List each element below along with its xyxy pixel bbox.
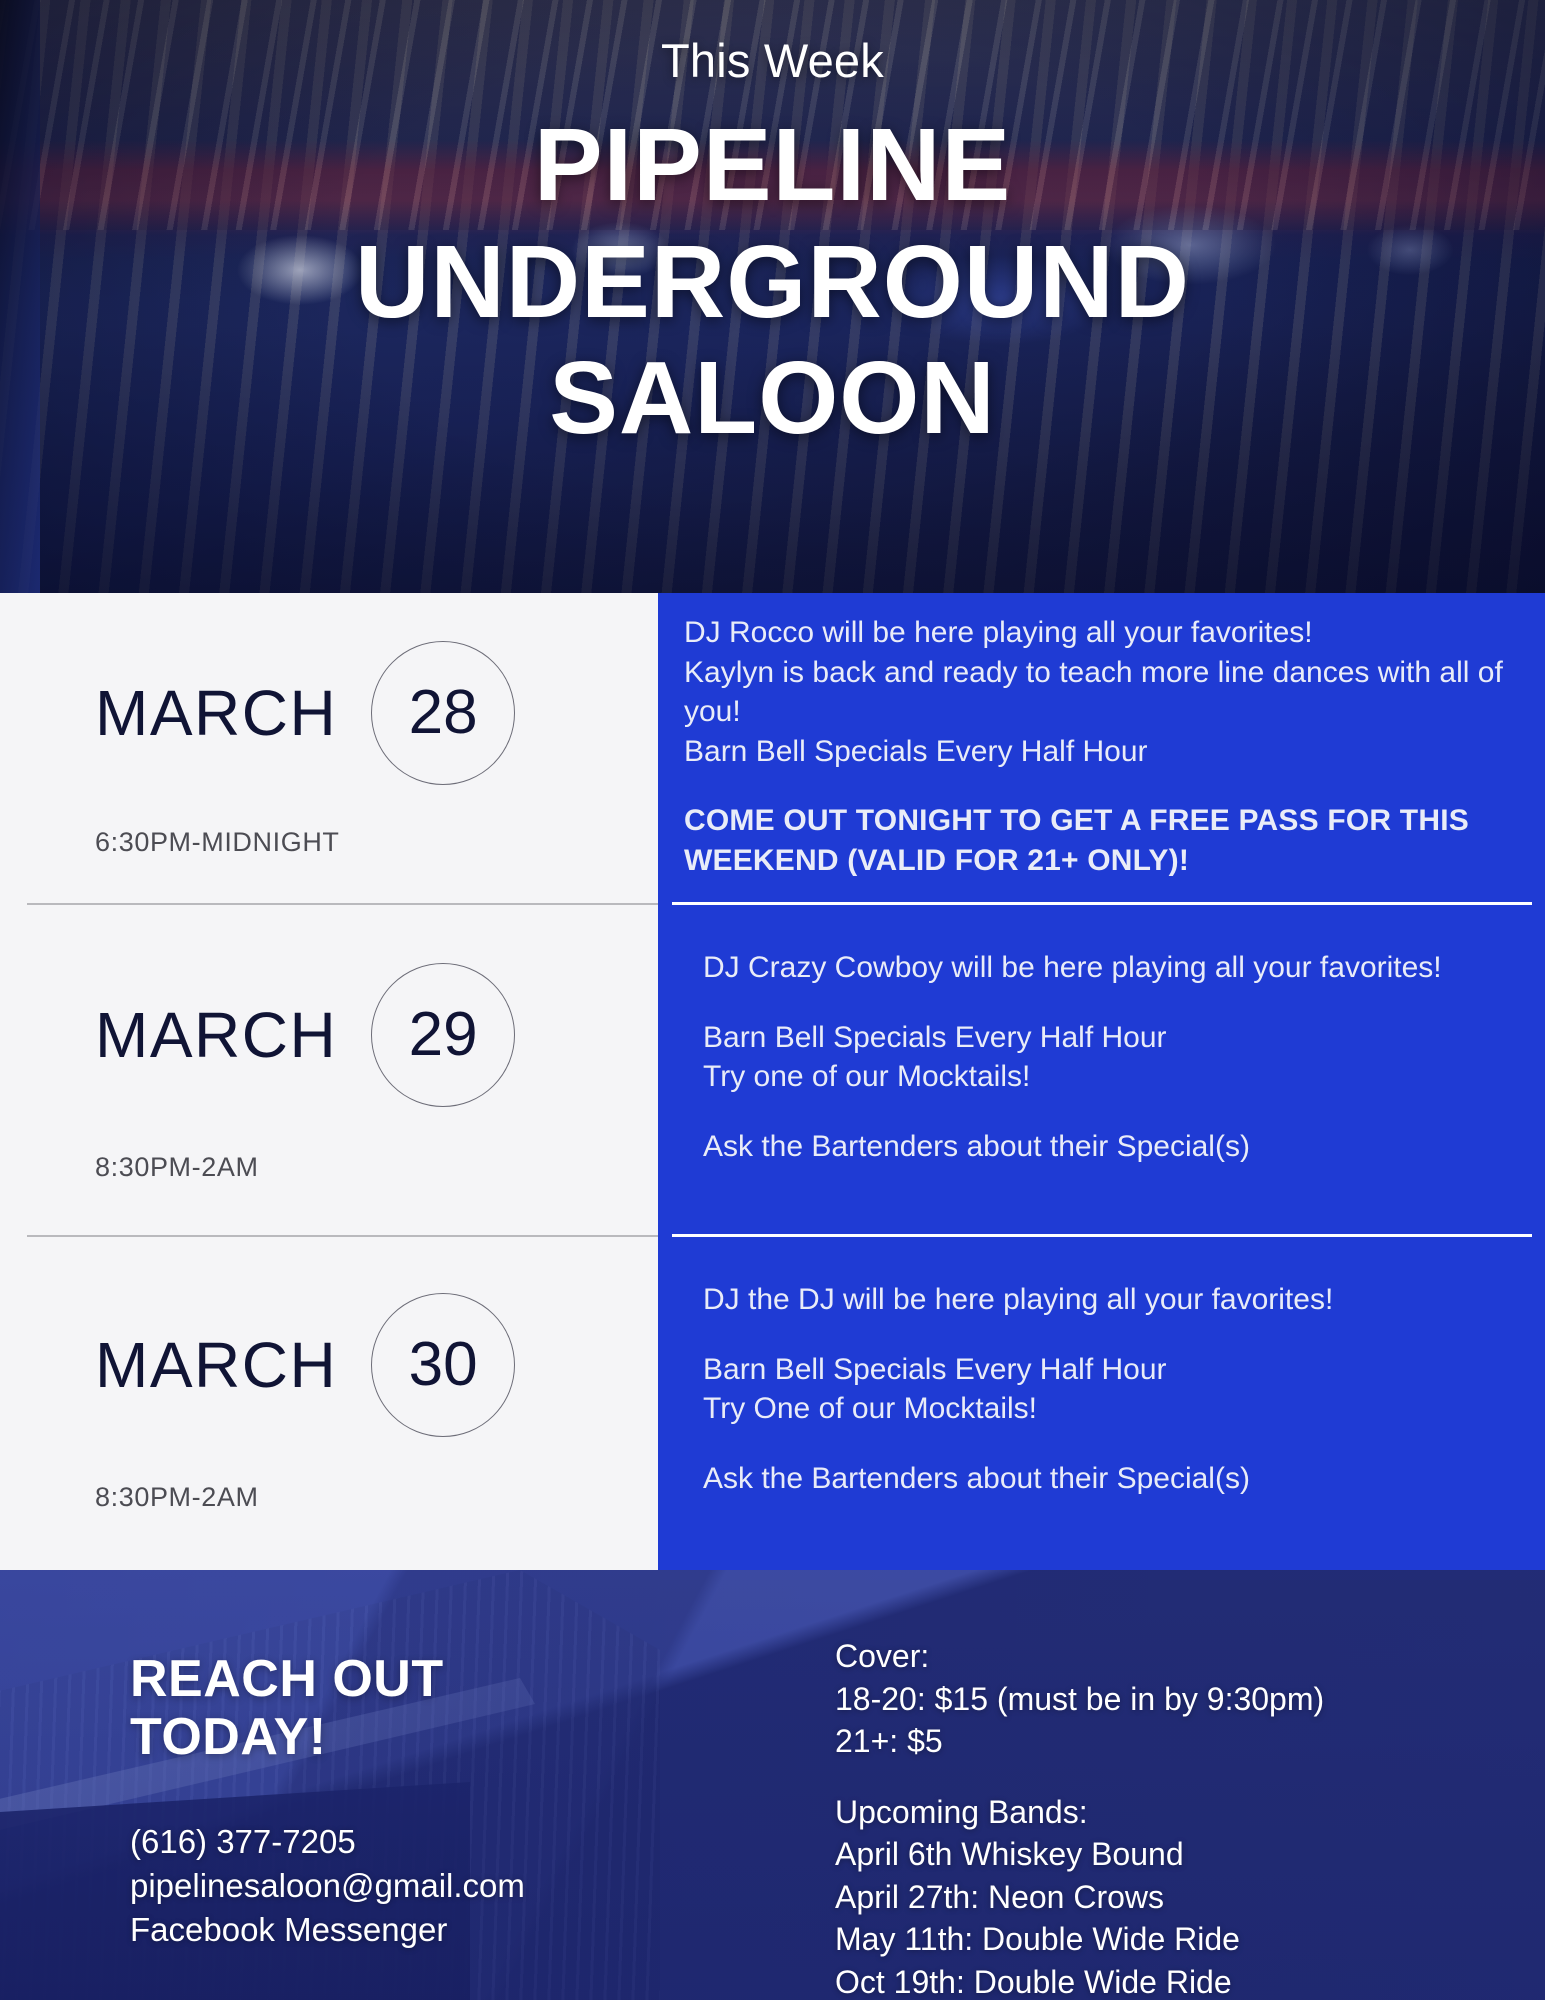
event-month: MARCH: [95, 1003, 337, 1067]
table-row: MARCH 29 8:30PM-2AM DJ Crazy Cowboy will…: [0, 903, 1545, 1235]
event-description-cell: DJ Crazy Cowboy will be here playing all…: [658, 903, 1545, 1235]
event-desc-line: Try One of our Mocktails!: [703, 1389, 1505, 1429]
contact-email[interactable]: pipelinesaloon@gmail.com: [130, 1864, 800, 1908]
hero-kicker: This Week: [661, 36, 884, 85]
contact-messenger[interactable]: Facebook Messenger: [130, 1908, 800, 1952]
event-time: 8:30PM-2AM: [95, 1482, 658, 1513]
spacer: [835, 1763, 1545, 1791]
spacer: [703, 1097, 1505, 1127]
event-date-cell: MARCH 29 8:30PM-2AM: [0, 903, 658, 1235]
event-day-number: 29: [409, 1004, 478, 1066]
spacer: [703, 1320, 1505, 1350]
band-item: April 6th Whiskey Bound: [835, 1833, 1545, 1876]
band-item: April 27th: Neon Crows: [835, 1876, 1545, 1919]
cover-tier-18-20: 18-20: $15 (must be in by 9:30pm): [835, 1678, 1545, 1721]
event-day-number: 28: [409, 682, 478, 744]
event-desc-line: Ask the Bartenders about their Special(s…: [703, 1127, 1505, 1167]
spacer: [703, 988, 1505, 1018]
event-date-cell: MARCH 28 6:30PM-MIDNIGHT: [0, 593, 658, 903]
footer-content: REACH OUT TODAY! (616) 377-7205 pipeline…: [0, 1570, 1545, 2000]
upcoming-bands-label: Upcoming Bands:: [835, 1791, 1545, 1834]
event-desc-line: Barn Bell Specials Every Half Hour: [703, 1350, 1505, 1390]
event-desc-line: Barn Bell Specials Every Half Hour: [684, 732, 1505, 772]
event-desc-line: Barn Bell Specials Every Half Hour: [703, 1018, 1505, 1058]
event-desc-line: DJ Crazy Cowboy will be here playing all…: [703, 948, 1505, 988]
footer-contact-column: REACH OUT TODAY! (616) 377-7205 pipeline…: [0, 1570, 800, 2000]
band-item: May 11th: Double Wide Ride: [835, 1918, 1545, 1961]
schedule-section: MARCH 28 6:30PM-MIDNIGHT DJ Rocco will b…: [0, 593, 1545, 1570]
event-day-circle: 29: [371, 963, 515, 1107]
event-description-cell: DJ Rocco will be here playing all your f…: [658, 593, 1545, 903]
event-desc-line: Try one of our Mocktails!: [703, 1057, 1505, 1097]
page-title: PIPELINE UNDERGROUND SALOON: [273, 107, 1273, 456]
table-row: MARCH 28 6:30PM-MIDNIGHT DJ Rocco will b…: [0, 593, 1545, 903]
event-desc-line: DJ the DJ will be here playing all your …: [703, 1280, 1505, 1320]
event-date-cell: MARCH 30 8:30PM-2AM: [0, 1235, 658, 1570]
event-desc-line: DJ Rocco will be here playing all your f…: [684, 613, 1505, 653]
event-time: 8:30PM-2AM: [95, 1152, 658, 1183]
band-item: Oct 19th: Double Wide Ride: [835, 1961, 1545, 2000]
contact-block: (616) 377-7205 pipelinesaloon@gmail.com …: [130, 1820, 800, 1951]
hero-banner: This Week PIPELINE UNDERGROUND SALOON: [0, 0, 1545, 593]
footer-section: REACH OUT TODAY! (616) 377-7205 pipeline…: [0, 1570, 1545, 2000]
event-month: MARCH: [95, 1333, 337, 1397]
event-day-circle: 30: [371, 1293, 515, 1437]
event-description-cell: DJ the DJ will be here playing all your …: [658, 1235, 1545, 1570]
cover-label: Cover:: [835, 1635, 1545, 1678]
event-time: 6:30PM-MIDNIGHT: [95, 827, 658, 858]
event-highlight-text: COME OUT TONIGHT TO GET A FREE PASS FOR …: [684, 801, 1505, 880]
flyer-page: This Week PIPELINE UNDERGROUND SALOON MA…: [0, 0, 1545, 2000]
event-desc-line: Ask the Bartenders about their Special(s…: [703, 1459, 1505, 1499]
cover-tier-21-plus: 21+: $5: [835, 1720, 1545, 1763]
footer-heading: REACH OUT TODAY!: [130, 1650, 530, 1766]
hero-text-block: This Week PIPELINE UNDERGROUND SALOON: [0, 0, 1545, 593]
event-date-main: MARCH 28: [95, 641, 658, 785]
event-date-main: MARCH 29: [95, 963, 658, 1107]
event-month: MARCH: [95, 681, 337, 745]
table-row: MARCH 30 8:30PM-2AM DJ the DJ will be he…: [0, 1235, 1545, 1570]
event-day-circle: 28: [371, 641, 515, 785]
spacer: [684, 771, 1505, 801]
event-day-number: 30: [409, 1334, 478, 1396]
event-date-main: MARCH 30: [95, 1293, 658, 1437]
spacer: [703, 1429, 1505, 1459]
footer-info-column: Cover: 18-20: $15 (must be in by 9:30pm)…: [800, 1570, 1545, 2000]
contact-phone[interactable]: (616) 377-7205: [130, 1820, 800, 1864]
event-desc-line: Kaylyn is back and ready to teach more l…: [684, 653, 1505, 732]
